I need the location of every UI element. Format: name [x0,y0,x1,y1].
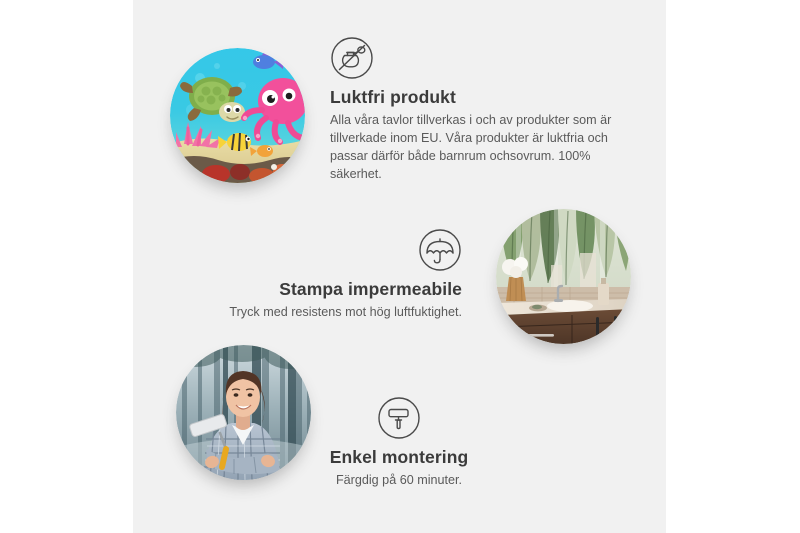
feature-mounting: Enkel montering Färgdig på 60 minuter. [304,396,494,490]
underwater-cartoon-mural-photo[interactable] [170,48,305,183]
photo-clip [170,48,305,183]
bathroom-tropical-wallpaper-photo[interactable] [496,209,631,344]
feature-description: Alla våra tavlor tillverkas i och av pro… [330,112,630,184]
underwater-illustration [170,48,305,183]
photo-clip [176,345,311,480]
bathroom-illustration [496,209,631,344]
screenshot-root: Luktfri produkt Alla våra tavlor tillver… [0,0,800,533]
painter-forest-mural-photo[interactable] [176,345,311,480]
feature-title: Enkel montering [304,447,494,468]
photo-clip [496,209,631,344]
feature-description: Tryck med resistens mot hög luftfuktighe… [210,304,462,322]
feature-odourfree: Luktfri produkt Alla våra tavlor tillver… [330,36,630,184]
feature-description: Färgdig på 60 minuter. [304,472,494,490]
feature-title: Stampa impermeabile [210,279,462,300]
painter-illustration [176,345,311,480]
no-odour-perfume-bottle-icon [330,36,374,80]
feature-title: Luktfri produkt [330,87,630,108]
feature-waterproof: Stampa impermeabile Tryck med resistens … [210,228,462,322]
umbrella-icon [418,228,462,272]
paint-roller-icon [377,396,421,440]
